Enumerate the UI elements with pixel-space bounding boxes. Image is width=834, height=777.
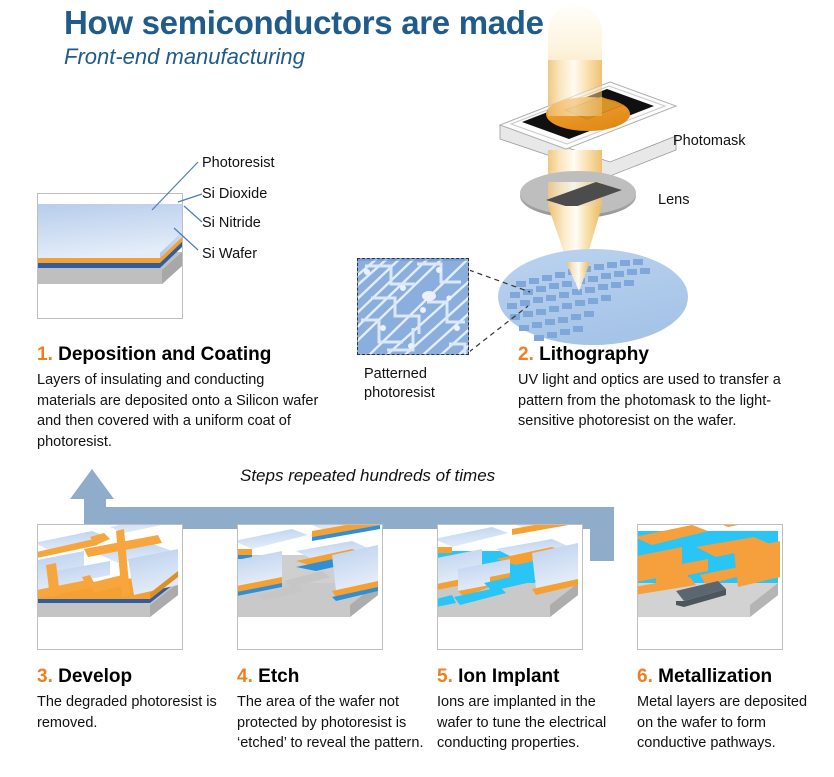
label-photomask: Photomask — [673, 133, 746, 149]
label-si-dioxide: Si Dioxide — [202, 186, 267, 202]
step-6-title: Metallization — [658, 666, 772, 687]
ion-implant-cross-section — [438, 525, 582, 649]
label-si-wafer: Si Wafer — [202, 246, 257, 262]
step-5-title: Ion Implant — [458, 666, 559, 687]
step-5-body: Ions are implanted in the wafer to tune … — [437, 692, 627, 754]
wafer-disc — [498, 249, 688, 345]
develop-illustration-panel — [37, 524, 183, 650]
step-2-number: 2. — [518, 344, 534, 365]
step-3-title: Develop — [58, 666, 132, 687]
step-1-title: Deposition and Coating — [58, 344, 271, 365]
label-photoresist: Photoresist — [202, 155, 275, 171]
ion-implant-illustration-panel — [437, 524, 583, 650]
step-3-number: 3. — [37, 666, 53, 687]
pattern-label-line2: photoresist — [364, 384, 435, 403]
metallization-illustration-panel — [637, 524, 783, 650]
step-4-heading: 4. Etch — [237, 666, 299, 688]
step-3-body: The degraded photoresist is removed. — [37, 692, 227, 733]
step-2-heading: 2. Lithography — [518, 344, 649, 366]
etch-illustration-panel — [237, 524, 383, 650]
step-4-number: 4. — [237, 666, 253, 687]
step-2-title: Lithography — [539, 344, 649, 365]
step-6-body: Metal layers are deposited on the wafer … — [637, 692, 827, 754]
label-patterned-photoresist: Patterned photoresist — [364, 365, 435, 403]
step-4-body: The area of the wafer not protected by p… — [237, 692, 427, 754]
metallization-cross-section — [638, 525, 782, 649]
label-si-nitride: Si Nitride — [202, 215, 261, 231]
step-5-heading: 5. Ion Implant — [437, 666, 559, 688]
step-1-body: Layers of insulating and conducting mate… — [37, 370, 327, 452]
step-1-number: 1. — [37, 344, 53, 365]
develop-cross-section — [38, 525, 182, 649]
step-2-body: UV light and optics are used to transfer… — [518, 370, 818, 432]
step-4-title: Etch — [258, 666, 299, 687]
step-3-heading: 3. Develop — [37, 666, 132, 688]
pattern-label-line1: Patterned — [364, 365, 435, 384]
step-5-number: 5. — [437, 666, 453, 687]
label-lens: Lens — [658, 192, 689, 208]
step-6-heading: 6. Metallization — [637, 666, 772, 688]
patterned-photoresist-inset — [357, 258, 469, 355]
step-1-heading: 1. Deposition and Coating — [37, 344, 271, 366]
step-6-number: 6. — [637, 666, 653, 687]
steps-repeated-note: Steps repeated hundreds of times — [240, 466, 495, 486]
page-subtitle: Front-end manufacturing — [64, 44, 305, 70]
etch-cross-section — [238, 525, 382, 649]
lithography-illustration — [470, 0, 834, 360]
